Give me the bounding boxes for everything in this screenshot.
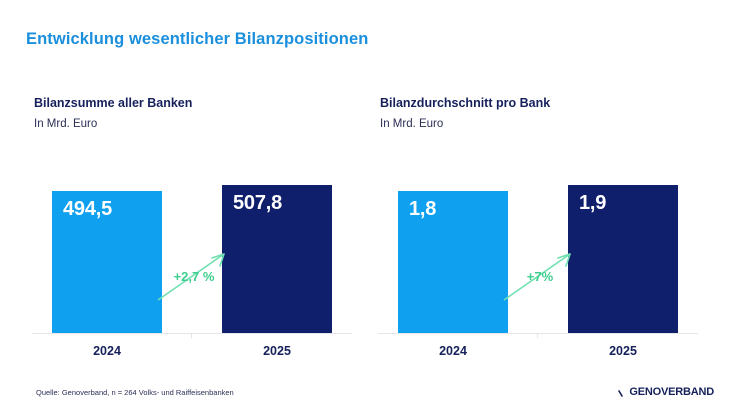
bar-2025[interactable]: 1,9	[568, 185, 678, 333]
bar-value-label: 494,5	[63, 198, 112, 221]
x-tick-label-2024: 2024	[52, 344, 162, 358]
bar-value-label: 1,9	[579, 192, 606, 215]
chart-title: Bilanzsumme aller Banken	[34, 96, 192, 110]
check-swoosh-icon	[618, 385, 627, 398]
bar-value-label: 507,8	[233, 192, 282, 215]
growth-percent-label: +7%	[502, 269, 578, 284]
chart-title: Bilanzdurchschnitt pro Bank	[380, 96, 550, 110]
x-tick-label-2024: 2024	[398, 344, 508, 358]
plot-area: 494,5 507,8 +2,7 % 2024 2025	[22, 154, 362, 366]
x-axis-tick	[191, 333, 192, 338]
growth-annotation: +2,7 %	[154, 244, 234, 306]
source-footnote: Quelle: Genoverband, n = 264 Volks- und …	[36, 388, 234, 397]
growth-annotation: +7%	[500, 244, 580, 306]
chart-panel-bilanzsumme: Bilanzsumme aller Banken In Mrd. Euro 49…	[22, 96, 362, 366]
chart-subtitle: In Mrd. Euro	[34, 118, 97, 130]
bar-value-label: 1,8	[409, 198, 436, 221]
x-tick-label-2025: 2025	[568, 344, 678, 358]
x-axis-line	[378, 333, 698, 334]
genoverband-logo: GENOVERBAND	[618, 385, 714, 398]
bar-2024[interactable]: 494,5	[52, 191, 162, 333]
plot-area: 1,8 1,9 +7% 2024 2025	[368, 154, 708, 366]
x-tick-label-2025: 2025	[222, 344, 332, 358]
x-axis-line	[32, 333, 352, 334]
chart-subtitle: In Mrd. Euro	[380, 118, 443, 130]
slide-canvas: Entwicklung wesentlicher Bilanzpositione…	[0, 0, 732, 412]
logo-wordmark: GENOVERBAND	[629, 386, 714, 398]
bar-2025[interactable]: 507,8	[222, 185, 332, 333]
page-title: Entwicklung wesentlicher Bilanzpositione…	[26, 30, 368, 49]
growth-percent-label: +2,7 %	[156, 269, 232, 284]
chart-panel-bilanzdurchschnitt: Bilanzdurchschnitt pro Bank In Mrd. Euro…	[368, 96, 708, 366]
bar-2024[interactable]: 1,8	[398, 191, 508, 333]
x-axis-tick	[537, 333, 538, 338]
